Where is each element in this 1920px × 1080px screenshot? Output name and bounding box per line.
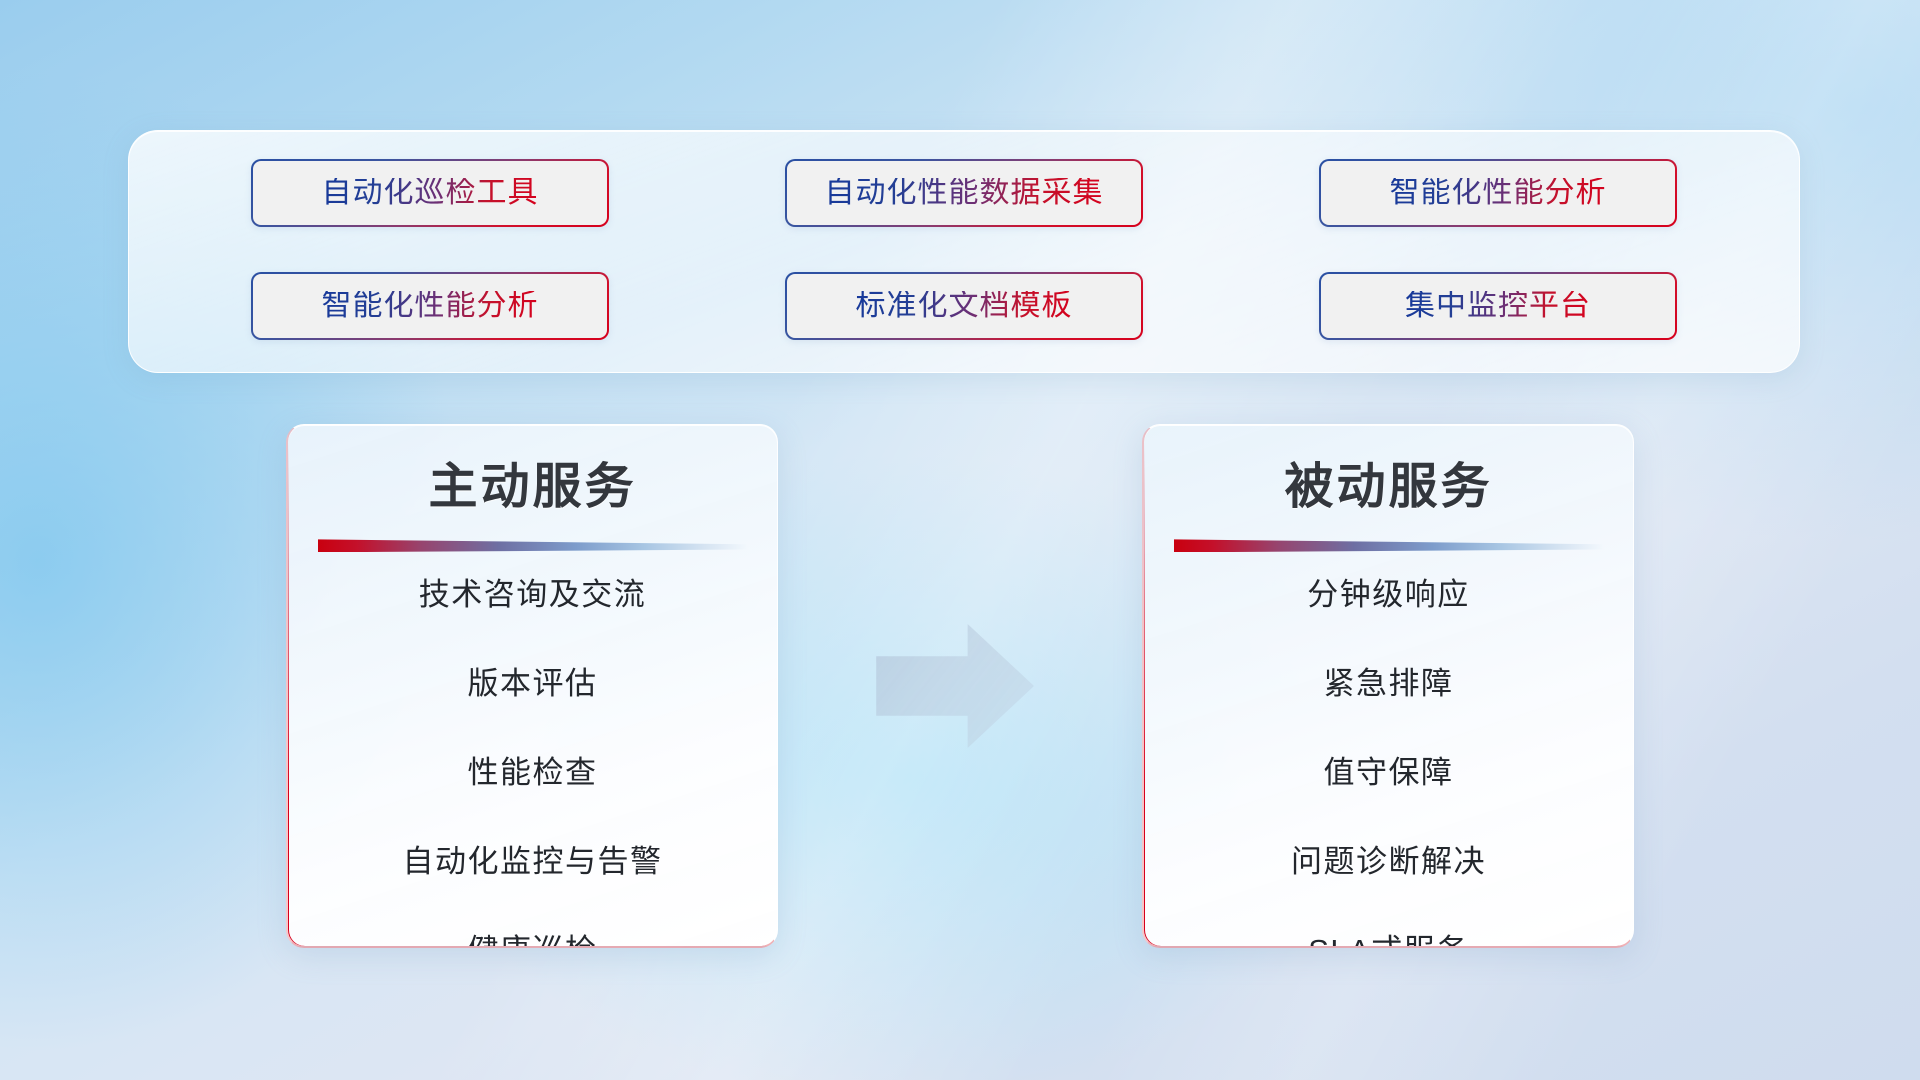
list-item: SLA式服务 [1144,935,1633,948]
gradient-bar [1174,539,1604,552]
slide-canvas: 自动化巡检工具 自动化性能数据采集 智能化性能分析 智能化性能分析 标准化文档模… [0,0,1920,1080]
service-card-active: 主动服务 技术咨询及交流 版本评估 性能检查 自动化监控与告警 健康巡检 [286,424,778,948]
capability-tag-label: 自动化性能数据采集 [825,178,1104,208]
capability-tag[interactable]: 自动化巡检工具 [251,159,609,227]
list-item: 紧急排障 [1144,668,1633,699]
service-item-list: 技术咨询及交流 版本评估 性能检查 自动化监控与告警 健康巡检 [288,579,777,948]
arrow-right-icon [876,624,1034,748]
capability-tag[interactable]: 自动化性能数据采集 [785,159,1143,227]
card-title: 被动服务 [1144,459,1633,515]
capability-tags-panel: 自动化巡检工具 自动化性能数据采集 智能化性能分析 智能化性能分析 标准化文档模… [128,130,1800,373]
card-title-divider [1174,539,1604,553]
card-title: 主动服务 [288,459,777,515]
list-item: 问题诊断解决 [1144,846,1633,877]
service-card-passive: 被动服务 分钟级响应 紧急排障 值守保障 问题诊断解决 SLA式服务 [1142,424,1634,948]
list-item: 技术咨询及交流 [288,579,777,610]
list-item: 版本评估 [288,668,777,699]
capability-tag-label: 自动化巡检工具 [322,178,539,208]
capability-tag[interactable]: 智能化性能分析 [251,272,609,340]
capability-tag-label: 标准化文档模板 [856,291,1073,321]
capability-tag[interactable]: 智能化性能分析 [1319,159,1677,227]
gradient-bar [318,539,748,552]
list-item: 健康巡检 [288,935,777,948]
list-item: 值守保障 [1144,757,1633,788]
capability-tag-label: 集中监控平台 [1405,291,1591,321]
list-item: 分钟级响应 [1144,579,1633,610]
list-item: 自动化监控与告警 [288,846,777,877]
capability-tag-label: 智能化性能分析 [322,291,539,321]
service-item-list: 分钟级响应 紧急排障 值守保障 问题诊断解决 SLA式服务 [1144,579,1633,948]
capability-tag[interactable]: 标准化文档模板 [785,272,1143,340]
capability-tag-label: 智能化性能分析 [1390,178,1607,208]
list-item: 性能检查 [288,757,777,788]
card-title-divider [318,539,748,553]
capability-tag[interactable]: 集中监控平台 [1319,272,1677,340]
